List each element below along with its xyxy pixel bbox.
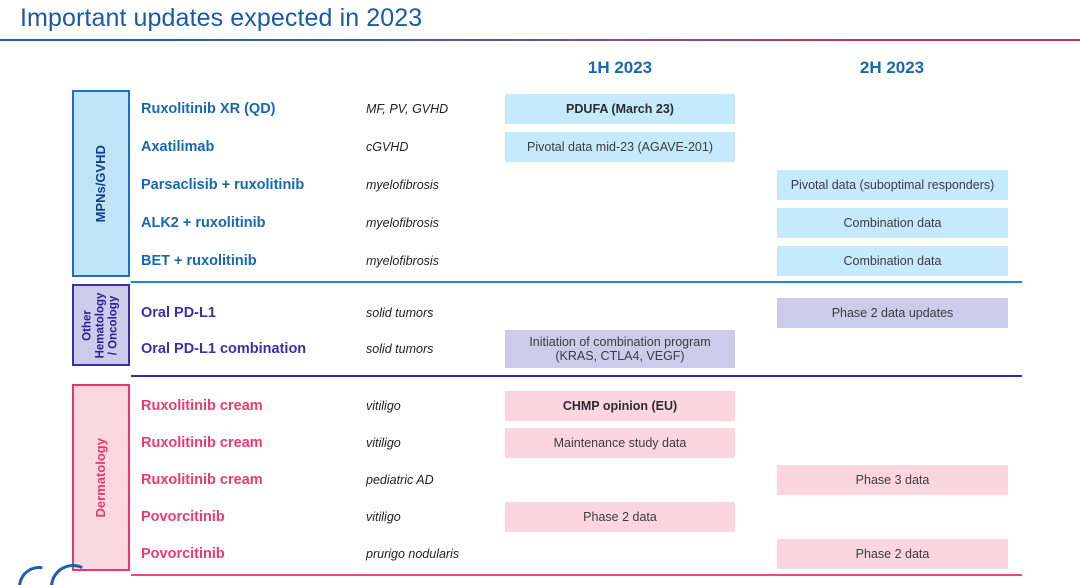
drug-name: Parsaclisib + ruxolitinib — [141, 166, 341, 204]
milestone-1h-2023[interactable]: Initiation of combination program (KRAS,… — [505, 330, 735, 368]
drug-name: Oral PD-L1 combination — [141, 330, 341, 368]
table-row: Oral PD-L1 solid tumors Phase 2 data upd… — [0, 294, 1080, 332]
indication: pediatric AD — [366, 461, 501, 499]
indication: vitiligo — [366, 424, 501, 462]
indication: myelofibrosis — [366, 242, 501, 280]
milestone-2h-2023[interactable]: Phase 3 data — [777, 465, 1008, 495]
table-row: Ruxolitinib XR (QD) MF, PV, GVHD PDUFA (… — [0, 90, 1080, 128]
table-row: Parsaclisib + ruxolitinib myelofibrosis … — [0, 166, 1080, 204]
drug-name: Ruxolitinib cream — [141, 461, 341, 499]
indication: solid tumors — [366, 294, 501, 332]
milestone-2h-2023[interactable]: Phase 2 data updates — [777, 298, 1008, 328]
indication: MF, PV, GVHD — [366, 90, 501, 128]
page-title: Important updates expected in 2023 — [20, 4, 422, 33]
table-row: ALK2 + ruxolitinib myelofibrosis Combina… — [0, 204, 1080, 242]
indication: myelofibrosis — [366, 204, 501, 242]
table-row: Oral PD-L1 combination solid tumors Init… — [0, 330, 1080, 368]
title-divider — [0, 39, 1080, 41]
milestone-2h-2023[interactable]: Combination data — [777, 208, 1008, 238]
milestone-1h-2023[interactable]: Pivotal data mid-23 (AGAVE-201) — [505, 132, 735, 162]
indication: cGVHD — [366, 128, 501, 166]
company-logo-icon — [14, 562, 106, 585]
table-row: BET + ruxolitinib myelofibrosis Combinat… — [0, 242, 1080, 280]
table-row: Povorcitinib prurigo nodularis Phase 2 d… — [0, 535, 1080, 573]
drug-name: Povorcitinib — [141, 498, 341, 536]
milestone-1h-2023[interactable]: CHMP opinion (EU) — [505, 391, 735, 421]
drug-name: Axatilimab — [141, 128, 341, 166]
milestone-1h-2023[interactable]: Maintenance study data — [505, 428, 735, 458]
drug-name: Ruxolitinib XR (QD) — [141, 90, 341, 128]
table-row: Ruxolitinib cream vitiligo CHMP opinion … — [0, 387, 1080, 425]
indication: solid tumors — [366, 330, 501, 368]
drug-name: BET + ruxolitinib — [141, 242, 341, 280]
drug-name: Ruxolitinib cream — [141, 387, 341, 425]
milestone-1h-2023[interactable]: Phase 2 data — [505, 502, 735, 532]
table-row: Axatilimab cGVHD Pivotal data mid-23 (AG… — [0, 128, 1080, 166]
milestone-2h-2023[interactable]: Phase 2 data — [777, 539, 1008, 569]
drug-name: Povorcitinib — [141, 535, 341, 573]
column-header-1h-2023: 1H 2023 — [505, 58, 735, 78]
section-divider-dermatology — [131, 574, 1022, 576]
column-header-2h-2023: 2H 2023 — [777, 58, 1007, 78]
table-row: Ruxolitinib cream vitiligo Maintenance s… — [0, 424, 1080, 462]
drug-name: Ruxolitinib cream — [141, 424, 341, 462]
indication: vitiligo — [366, 498, 501, 536]
table-row: Ruxolitinib cream pediatric AD Phase 3 d… — [0, 461, 1080, 499]
indication: prurigo nodularis — [366, 535, 501, 573]
milestone-1h-2023[interactable]: PDUFA (March 23) — [505, 94, 735, 124]
table-row: Povorcitinib vitiligo Phase 2 data — [0, 498, 1080, 536]
drug-name: ALK2 + ruxolitinib — [141, 204, 341, 242]
slide-root: Important updates expected in 2023 1H 20… — [0, 0, 1080, 585]
milestone-2h-2023[interactable]: Combination data — [777, 246, 1008, 276]
milestone-2h-2023[interactable]: Pivotal data (suboptimal responders) — [777, 170, 1008, 200]
section-divider-mpns — [131, 281, 1022, 283]
indication: vitiligo — [366, 387, 501, 425]
section-divider-other-heme — [131, 375, 1022, 377]
indication: myelofibrosis — [366, 166, 501, 204]
drug-name: Oral PD-L1 — [141, 294, 341, 332]
